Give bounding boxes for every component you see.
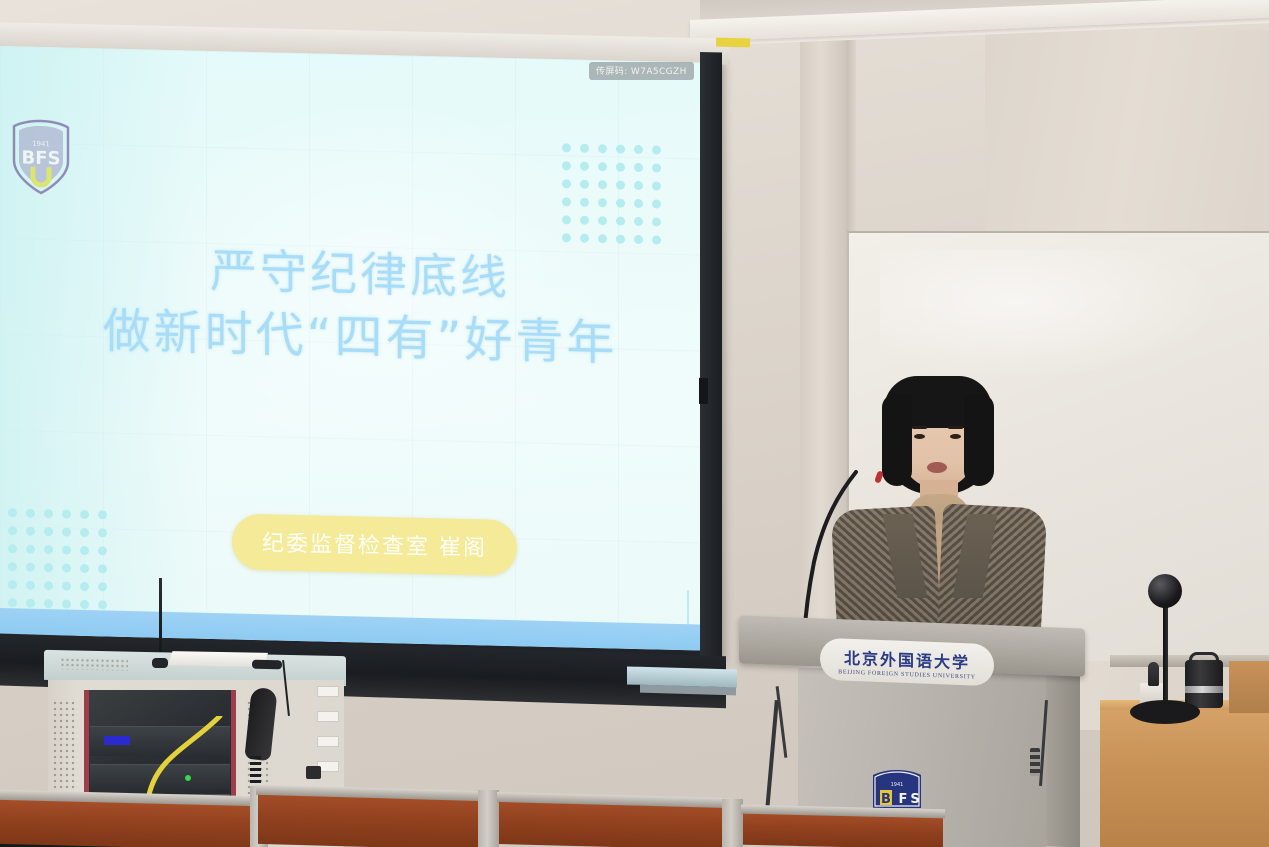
av-rack-labels [317,686,339,772]
ball-microphone-icon[interactable] [1148,574,1182,608]
slide-dot-grid-top-right [562,143,661,244]
hair-side-left [882,394,912,486]
microphone-stand-base [1130,700,1200,724]
wooden-chair-back [1229,661,1269,713]
small-microphone[interactable] [1148,662,1159,686]
presenter-badge: 纪委监督检查室 崔阁 [232,513,517,576]
svg-text:1941: 1941 [891,782,904,788]
slide-title: 严守纪律底线 做新时代“四有”好青年 [40,237,680,377]
antenna-rod [159,578,162,660]
eyebrow-left [912,426,927,429]
screen-cast-code: 传屏码: W7A5CGZH [589,62,694,80]
projection-screen-right-edge [700,52,722,663]
bfs-logo-icon: 1941 BFS [9,118,73,196]
bench-post [478,790,499,847]
podium-jack-plate[interactable] [1030,748,1040,776]
svg-text:S: S [910,792,919,807]
screen-yellow-label [716,38,750,48]
remote-control [252,660,282,670]
eye-left [914,434,925,439]
presenter-figure [828,376,1046,636]
plaque-chinese-name: 北京外国语大学 [844,644,970,673]
podium-plaque: 北京外国语大学 BEIJING FOREIGN STUDIES UNIVERSI… [820,638,994,687]
av-rack-top-vent [60,657,128,670]
podium-side-panel [1046,665,1080,847]
svg-text:B: B [881,792,891,807]
hair-side-right [964,394,994,486]
lecture-hall-photo: 1941 BFS 严守纪律底线 做新时代“四有”好青 [0,0,1269,847]
eye-right [950,434,961,439]
svg-text:BFS: BFS [22,148,61,170]
eyebrow-right [948,426,963,429]
antenna-base-knob [152,658,168,668]
bench-post [722,799,743,847]
wall-socket[interactable] [306,766,321,779]
whiteboard-glare [880,250,1220,380]
microphone-stand-pole [1163,596,1168,712]
thermos-metal-band [1185,686,1223,693]
projected-slide: 1941 BFS 严守纪律底线 做新时代“四有”好青 [0,46,717,651]
mouth [927,462,947,473]
svg-text:F: F [899,792,908,807]
projection-screen-edge-clip [699,378,708,404]
thermos-tumbler [1185,660,1223,708]
gooseneck-microphone[interactable] [800,470,860,640]
side-desk [1100,700,1269,847]
